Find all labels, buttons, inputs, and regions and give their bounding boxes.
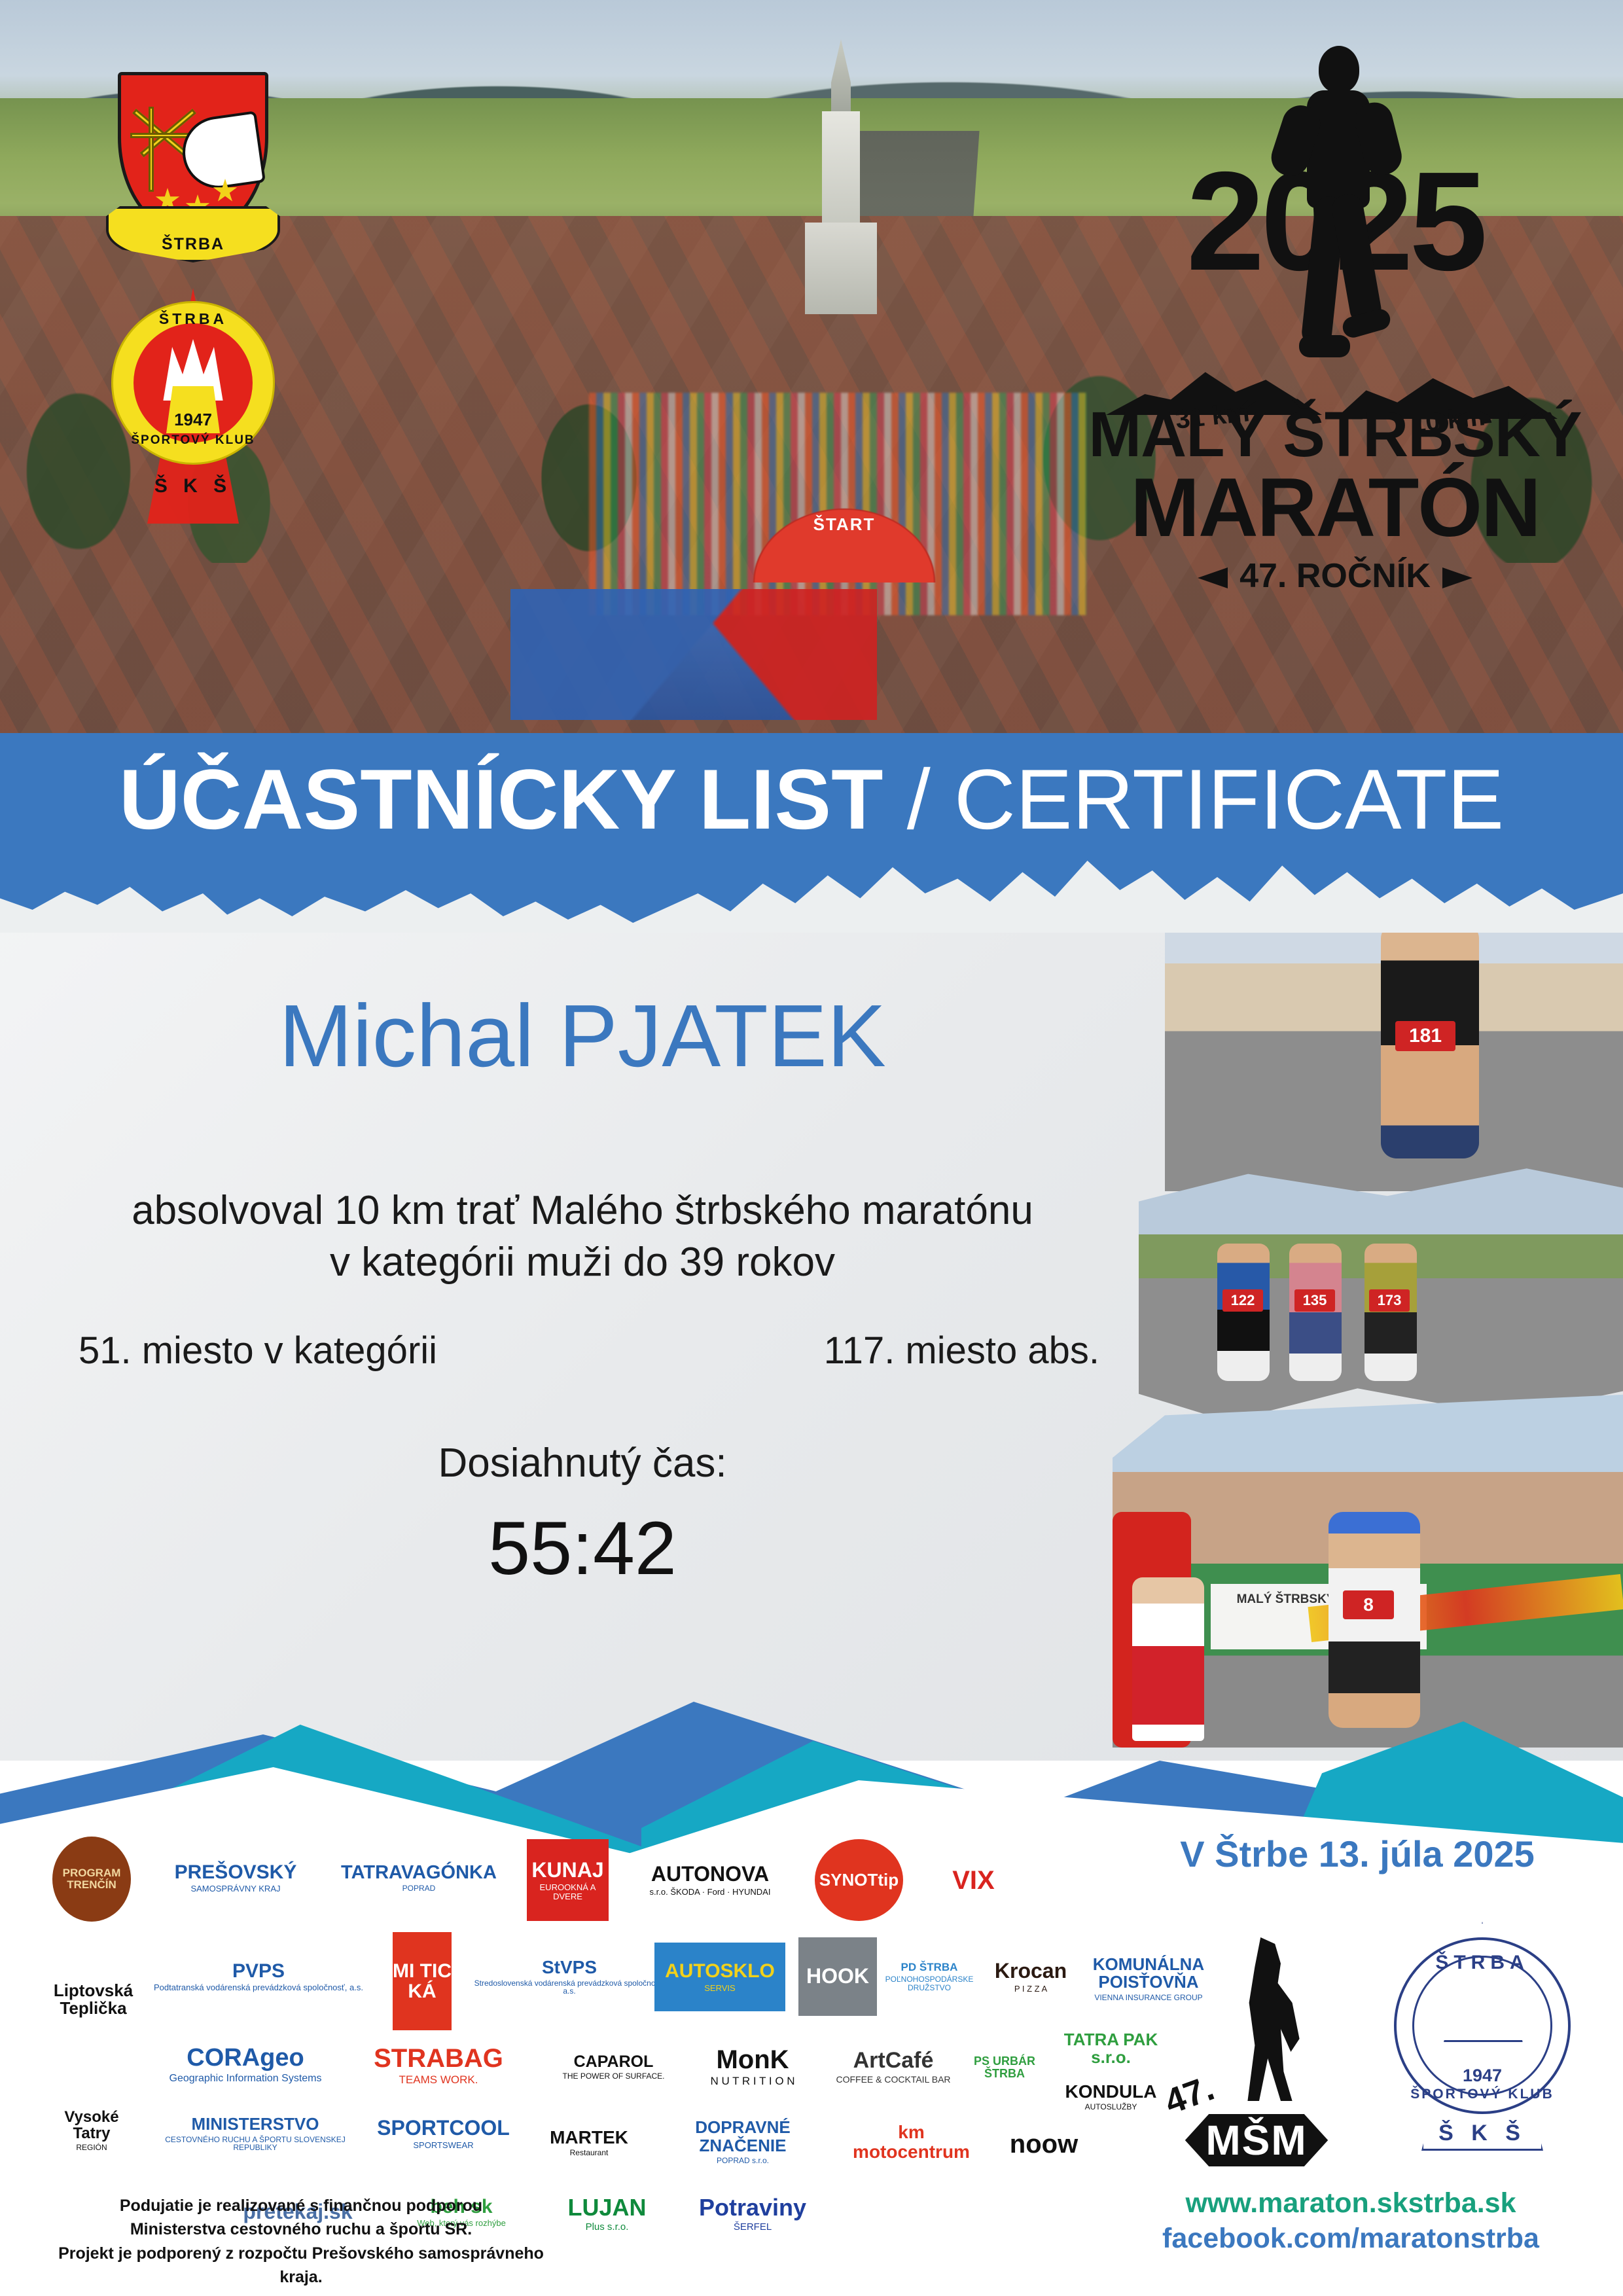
sponsor-name: Vysoké Tatry [49, 2109, 134, 2142]
sponsor-name: Liptovská Teplička [52, 1982, 134, 2018]
sponsor-name: DOPRAVNÉ ZNAČENIE [654, 2119, 831, 2155]
certificate-title-separator: / [907, 751, 931, 847]
time-value: 55:42 [79, 1505, 1086, 1592]
website-url[interactable]: www.maraton.skstrba.sk [1122, 2186, 1580, 2221]
sponsor-tagline: SERVIS [665, 1984, 775, 1993]
sponsor-name: MI TIC KÁ [393, 1961, 452, 2002]
photo2-bib-number: 122 [1222, 1289, 1263, 1312]
event-tents [510, 589, 877, 720]
event-logo: 2025 31 km 10 km MALÝ ŠTRBSKÝ MARATÓN 47… [1086, 26, 1584, 602]
sponsor-logo: SPORTCOOLSPORTSWEAR [373, 2101, 514, 2166]
sponsor-tagline: POPRAD s.r.o. [654, 2157, 831, 2165]
sponsor-logo: Liptovská Teplička [52, 1934, 134, 2065]
sponsor-name: ArtCafé [836, 2049, 950, 2073]
sponsor-logo: KUNAJEUROOKNÁ A DVERE [527, 1839, 609, 1921]
stamp-top-text: ŠTRBA [1381, 1952, 1584, 1974]
sponsor-name: MonK [710, 2046, 794, 2073]
event-title-line2: MARATÓN [1086, 466, 1584, 549]
sponsor-name: HOOK [806, 1965, 869, 1988]
sponsor-name: TATRAVAGÓNKA [341, 1863, 497, 1882]
disclaimer-line-1: Podujatie je realizované s finančnou pod… [52, 2194, 550, 2217]
sponsor-logo: KrocanP I Z Z A [985, 1936, 1077, 2018]
mountain-divider [0, 1662, 1623, 1852]
sponsor-name: Potraviny [699, 2195, 806, 2220]
time-label: Dosiahnutý čas: [79, 1440, 1086, 1486]
sponsor-logo: MonKN U T R I T I O N [694, 2032, 811, 2101]
sponsor-logo: MARTEKRestaurant [537, 2106, 641, 2178]
sponsor-tagline: POPRAD [341, 1884, 497, 1893]
sponsor-logo: Vysoké TatryREGIÓN [49, 2088, 134, 2173]
sponsor-tagline: Geographic Information Systems [169, 2073, 322, 2085]
certificate-title-sk: ÚČASTNÍCKY LIST [119, 751, 883, 847]
event-title-line1: MALÝ ŠTRBSKÝ [1086, 403, 1584, 466]
description-line-1: absolvoval 10 km trať Malého štrbského m… [65, 1185, 1099, 1236]
sponsor-tagline: ŠERFEL [699, 2222, 806, 2233]
runner-figure-icon [1230, 1937, 1302, 2101]
sponsor-name: MARTEK [550, 2128, 628, 2147]
sponsor-logo: VIX [929, 1839, 1018, 1921]
sponsor-tagline: Plus s.r.o. [567, 2222, 646, 2233]
sponsor-tagline: Podtatranská vodárenská prevádzková spol… [154, 1983, 363, 1992]
sponsor-name: CAPAROL [562, 2053, 664, 2070]
photo2-bib-number: 173 [1369, 1289, 1410, 1312]
photo2-bib-number: 135 [1294, 1289, 1335, 1312]
stamp-year: 1947 [1381, 2066, 1584, 2086]
sponsor-logo: PROGRAM TRENČÍN [52, 1837, 131, 1922]
sponsor-logo: DOPRAVNÉ ZNAČENIEPOPRAD s.r.o. [654, 2114, 831, 2170]
sks-club-logo: ŠTRBA 1947 ŠPORTOVÝ KLUB Š K Š [111, 288, 275, 530]
sponsor-name: noow [1010, 2130, 1078, 2158]
sponsor-name: VIX [952, 1867, 994, 1894]
sponsor-name: AUTONOVA [650, 1863, 771, 1886]
runner-silhouette-icon [1273, 46, 1404, 373]
disclaimer-line-3: Projekt je podporený z rozpočtu Prešovsk… [52, 2242, 550, 2289]
sponsor-tagline: THE POWER OF SURFACE. [562, 2072, 664, 2081]
facebook-url[interactable]: facebook.com/maratonstrba [1122, 2221, 1580, 2257]
msm-abbrev: MŠM [1171, 2108, 1342, 2173]
club-logo-abbrev: Š K Š [111, 475, 275, 497]
sponsor-name: MINISTERSTVO [151, 2115, 360, 2133]
sponsor-logo: km motocentrum [854, 2108, 969, 2176]
photo3-bib-number: 8 [1343, 1590, 1394, 1619]
sponsor-logo: PS URBÁR ŠTRBA [969, 2026, 1041, 2108]
sponsor-logo: noow [991, 2113, 1096, 2175]
club-logo-top-text: ŠTRBA [111, 310, 275, 328]
certificate-title-en: CERTIFICATE [954, 751, 1504, 847]
event-edition: 47. ROČNÍK [1086, 556, 1584, 596]
certificate-date: V Štrbe 13. júla 2025 [1148, 1833, 1567, 1875]
start-arch-label: ŠTART [740, 514, 949, 535]
photo-runners-on-course: 122 135 173 [1139, 1152, 1623, 1427]
sponsor-logo: ArtCaféCOFFEE & COCKTAIL BAR [834, 2029, 952, 2104]
sponsor-logo: LUJANPlus s.r.o. [550, 2183, 664, 2245]
place-in-category: 51. miesto v kategórii [79, 1329, 437, 1372]
sponsor-name: PROGRAM TRENČÍN [52, 1867, 131, 1891]
sponsor-logo: PREŠOVSKÝSAMOSPRÁVNY KRAJ [151, 1842, 321, 1914]
crest-cross-vertical-icon [149, 107, 154, 192]
sponsor-tagline: EUROOKNÁ A DVERE [527, 1883, 609, 1901]
disclaimer-line-2: Ministerstva cestovného ruchu a športu S… [52, 2217, 550, 2241]
stamp-mid-text: ŠPORTOVÝ KLUB [1381, 2087, 1584, 2102]
sponsor-logo: MINISTERSTVOCESTOVNÉHO RUCHU A ŠPORTU SL… [151, 2094, 360, 2173]
place-absolute: 117. miesto abs. [824, 1329, 1099, 1372]
certificate-description: absolvoval 10 km trať Malého štrbského m… [65, 1185, 1099, 1289]
sponsor-name: PD ŠTRBA [885, 1962, 974, 1973]
church-building [805, 39, 877, 314]
contact-links: www.maraton.skstrba.sk facebook.com/mara… [1122, 2186, 1580, 2257]
sponsor-tagline: CESTOVNÉHO RUCHU A ŠPORTU SLOVENSKEJ REP… [151, 2136, 360, 2152]
sponsor-name: PS URBÁR ŠTRBA [969, 2055, 1041, 2080]
sponsor-tagline: REGIÓN [49, 2144, 134, 2152]
sponsor-tagline: SPORTSWEAR [377, 2141, 510, 2150]
certificate-title: ÚČASTNÍCKY LIST / CERTIFICATE [0, 757, 1623, 842]
sponsor-name: AUTOSKLO [665, 1961, 775, 1982]
sponsor-logo: MI TIC KÁ [393, 1932, 452, 2030]
sponsor-tagline: COFFEE & COCKTAIL BAR [836, 2075, 950, 2085]
sponsor-name: SYNOTtip [819, 1871, 899, 1889]
sponsor-logo: StVPSStredoslovenská vodárenská prevádzk… [471, 1937, 668, 2016]
stamp-bottom-text: Š K Š [1381, 2121, 1584, 2146]
strba-municipality-crest: ŠTRBA [118, 72, 268, 268]
sponsor-name: km motocentrum [853, 2123, 970, 2161]
sponsor-logo: STRABAGTEAMS WORK. [360, 2029, 517, 2101]
photo1-bib-number: 181 [1395, 1021, 1455, 1051]
funding-disclaimer: Podujatie je realizované s finančnou pod… [52, 2194, 550, 2289]
sks-club-stamp: ŠTRBA 1947 ŠPORTOVÝ KLUB Š K Š [1381, 1905, 1584, 2166]
sponsor-tagline: N U T R I T I O N [710, 2075, 794, 2087]
sponsor-tagline: POĽNOHOSPODÁRSKE DRUŽSTVO [885, 1975, 974, 1992]
sponsor-logo: AUTOSKLOSERVIS [654, 1943, 785, 2011]
sponsor-tagline: Stredoslovenská vodárenská prevádzková s… [471, 1979, 668, 1996]
sponsor-name: Krocan [995, 1960, 1067, 1982]
crest-ribbon: ŠTRBA [106, 206, 280, 262]
event-edition-label: 47. ROČNÍK [1240, 557, 1431, 595]
sponsor-name: PREŠOVSKÝ [175, 1862, 297, 1883]
sponsor-tagline: P I Z Z A [995, 1984, 1067, 1994]
sponsor-name: STRABAG [374, 2045, 503, 2072]
sponsor-logo: SYNOTtip [815, 1839, 903, 1921]
sponsor-name: LUJAN [567, 2195, 646, 2220]
photo-collage: 181 122 135 173 MALÝ ŠTRBSKÝ MARATÓN 8 [1099, 870, 1623, 1757]
sponsor-name: CORAgeo [169, 2045, 322, 2072]
footer-emblems: 47. MŠM ŠTRBA 1947 ŠPORTOVÝ KLUB Š K Š [1139, 1898, 1597, 2179]
crest-municipality-label: ŠTRBA [109, 235, 277, 254]
sponsor-tagline: Restaurant [550, 2149, 628, 2157]
sponsor-logo: PD ŠTRBAPOĽNOHOSPODÁRSKE DRUŽSTVO [890, 1936, 969, 2018]
club-logo-bottom-text: ŠPORTOVÝ KLUB [111, 433, 275, 448]
club-logo-year: 1947 [111, 410, 275, 430]
arrow-left-icon [1198, 567, 1228, 588]
sponsor-name: PVPS [154, 1961, 363, 1982]
participant-name: Michal PJATEK [79, 992, 1086, 1080]
crest-arm-icon [178, 111, 266, 193]
sponsor-logo: CORAgeoGeographic Information Systems [151, 2029, 340, 2101]
arrow-right-icon [1442, 567, 1472, 588]
sponsor-name: KUNAJ [527, 1859, 609, 1882]
sponsor-logo: CAPAROLTHE POWER OF SURFACE. [556, 2029, 671, 2104]
sponsor-logo: TATRAVAGÓNKAPOPRAD [334, 1842, 504, 1914]
placement-row: 51. miesto v kategórii 117. miesto abs. [79, 1329, 1099, 1372]
sponsor-tagline: TEAMS WORK. [374, 2074, 503, 2086]
sponsor-tagline: SAMOSPRÁVNY KRAJ [175, 1884, 297, 1893]
sponsor-logo: HOOK [798, 1937, 877, 2016]
description-line-2: v kategórii muži do 39 rokov [65, 1236, 1099, 1288]
sponsor-logo: AUTONOVAs.r.o. ŠKODA · Ford · HYUNDAI [628, 1839, 792, 1921]
sponsor-logo: PotravinyŠERFEL [684, 2183, 821, 2245]
sponsor-name: StVPS [471, 1958, 668, 1977]
sponsor-name: SPORTCOOL [377, 2117, 510, 2140]
sponsor-logo: PVPSPodtatranská vodárenská prevádzková … [151, 1937, 366, 2016]
msm-emblem: 47. MŠM [1158, 1911, 1355, 2173]
sponsor-tagline: s.r.o. ŠKODA · Ford · HYUNDAI [650, 1888, 771, 1897]
